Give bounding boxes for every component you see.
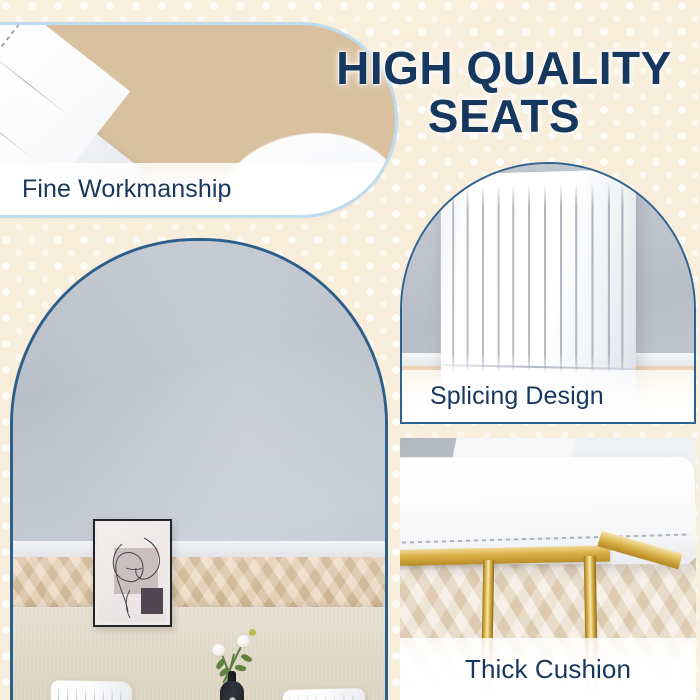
splicing-label-strip: Splicing Design [402,370,694,422]
thick-cushion-label: Thick Cushion [465,654,631,685]
panel-room-scene[interactable] [10,238,388,700]
headline-line-1: HIGH QUALITY [318,44,690,92]
chair-right-channels [283,688,365,700]
artwork-line-drawing [104,530,167,622]
chair-right-backrest [283,688,365,700]
baseboard [13,541,385,557]
flower-bud [249,629,256,636]
flower-bloom-1 [212,644,225,656]
headline-line-2: SEATS [318,92,690,140]
flower-bloom-2 [237,635,250,647]
splicing-design-label: Splicing Design [430,382,604,411]
framed-artwork [93,519,172,627]
banner-canvas: Fine Workmanship HIGH QUALITY SEATS [0,0,700,700]
workmanship-label-strip: Fine Workmanship [0,163,395,215]
panel-splicing-design[interactable]: Splicing Design [400,162,696,424]
chair-left-channels [51,680,132,700]
artwork-canvas [98,524,167,622]
page-title: HIGH QUALITY SEATS [318,44,690,140]
chair-left-backrest [51,680,132,700]
cushion-label-strip: Thick Cushion [400,638,696,700]
fine-workmanship-label: Fine Workmanship [22,175,232,204]
panel-thick-cushion[interactable]: Thick Cushion [400,438,696,700]
